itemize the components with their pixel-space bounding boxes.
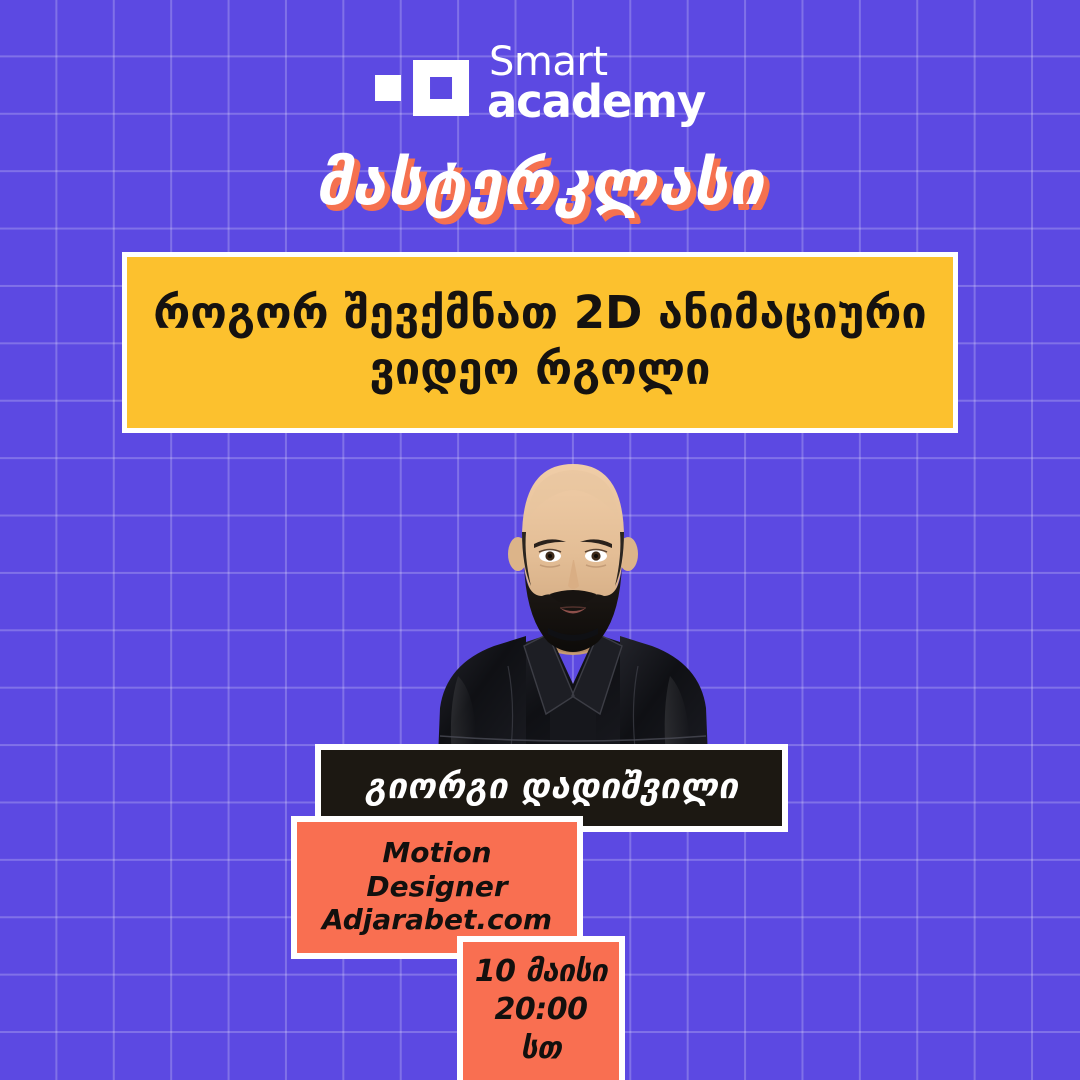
logo-mark-icon [375, 60, 469, 122]
topic-line-1: როგორ შევქმნათ 2D ანიმაციური [151, 285, 929, 341]
logo-square-hole [430, 77, 452, 99]
smart-academy-logo: Smart academy [375, 44, 705, 122]
speaker-role-line-1: Motion Designer [309, 836, 565, 903]
event-date: 10 მაისი [473, 953, 609, 991]
speaker-photo [398, 446, 748, 758]
logo-wordmark: Smart academy [487, 44, 705, 122]
masterclass-heading: მასტერკლასი [0, 146, 1080, 219]
speaker-name: გიორგი დადიშვილი [341, 767, 762, 807]
speaker-photo-illustration [398, 446, 748, 758]
event-time: 20:00 სთ [473, 991, 609, 1068]
masterclass-poster: Smart academy მასტერკლასი როგორ შევქმნათ… [0, 0, 1080, 1080]
logo-big-square-icon [413, 60, 469, 116]
speaker-role-line-2: Adjarabet.com [309, 903, 565, 937]
event-date-plate: 10 მაისი 20:00 სთ [457, 936, 625, 1080]
topic-banner: როგორ შევქმნათ 2D ანიმაციური ვიდეო რგოლი [122, 252, 958, 433]
logo-word-academy: academy [487, 81, 705, 122]
topic-line-2: ვიდეო რგოლი [151, 341, 929, 397]
masterclass-label: მასტერკლასი [316, 146, 765, 219]
logo-small-square-icon [375, 75, 401, 101]
